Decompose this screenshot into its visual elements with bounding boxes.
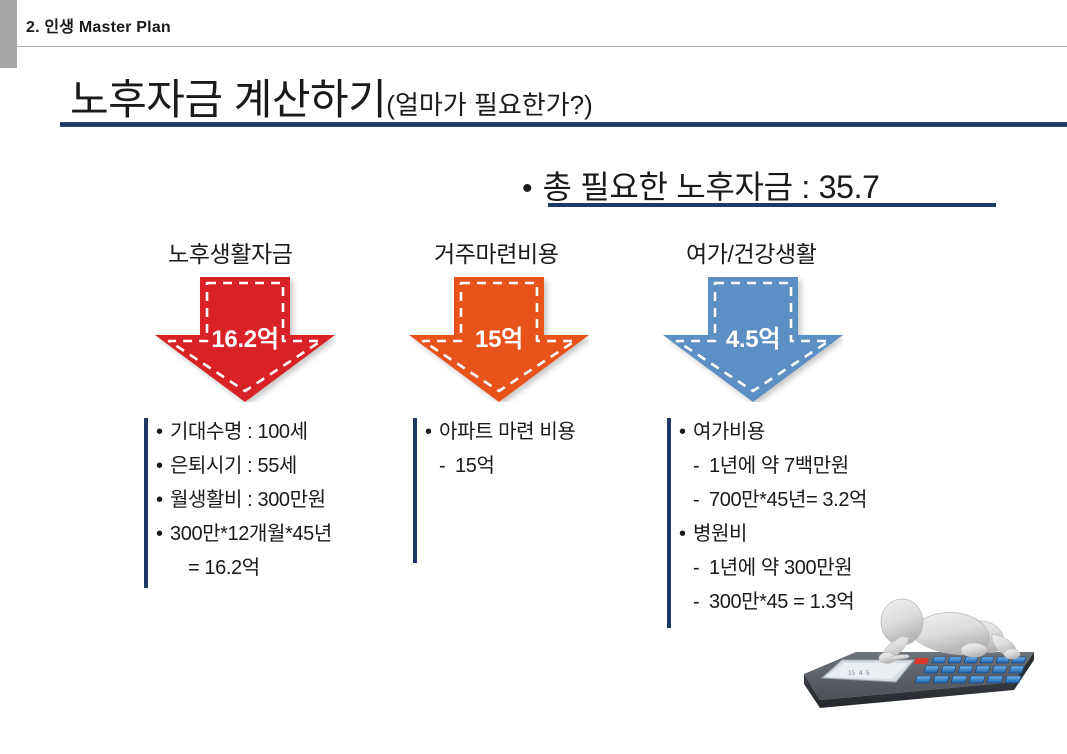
- slide-canvas: 2. 인생 Master Plan 노후자금 계산하기(얼마가 필요한가?) •…: [0, 0, 1067, 754]
- arrow-shape-1: 16.2억: [155, 277, 335, 402]
- list-item: - 15억: [425, 456, 575, 476]
- page-title-sub: (얼마가 필요한가?): [386, 90, 592, 120]
- bullet-dot-icon: •: [156, 422, 170, 442]
- total-required-fund-text: 총 필요한 노후자금 : 35.7: [543, 162, 880, 208]
- bullet-dash-icon: -: [439, 456, 455, 476]
- total-required-fund: • 총 필요한 노후자금 : 35.7: [522, 162, 880, 208]
- column-title-3: 여가/건강생활: [686, 235, 817, 269]
- header-label: 2. 인생 Master Plan: [26, 13, 171, 37]
- list-accent-rule-2: [413, 418, 417, 563]
- arrow-value-3: 4.5억: [726, 319, 780, 354]
- list-item-label: 월생활비 : 300만원: [170, 490, 326, 510]
- bullet-dot-icon: •: [156, 490, 170, 510]
- bullet-dash-icon: -: [693, 592, 709, 612]
- header-accent-bar: [0, 0, 17, 68]
- list-item: • 아파트 마련 비용: [425, 422, 575, 442]
- arrow-shape-3: 4.5억: [663, 277, 843, 402]
- person-on-calculator-icon: 15 4 5: [796, 596, 1046, 716]
- list-accent-rule-1: [144, 418, 148, 588]
- bullet-list-1: • 기대수명 : 100세 • 은퇴시기 : 55세 • 월생활비 : 300만…: [156, 422, 332, 592]
- list-accent-rule-3: [667, 418, 671, 628]
- bullet-dash-icon: -: [693, 558, 709, 578]
- list-item: - 700만*45년= 3.2억: [679, 490, 867, 510]
- list-item-label: 700만*45년= 3.2억: [709, 490, 867, 510]
- list-item-label: 15억: [455, 456, 494, 476]
- bullet-dot-icon: •: [679, 422, 693, 442]
- list-item: • 여가비용: [679, 422, 867, 442]
- list-item: - 1년에 약 300만원: [679, 558, 867, 578]
- list-item-label: 기대수명 : 100세: [170, 422, 308, 442]
- list-item-label: = 16.2억: [188, 558, 260, 578]
- bullet-dash-icon: -: [693, 456, 709, 476]
- list-item: • 300만*12개월*45년: [156, 524, 332, 544]
- arrow-value-1: 16.2억: [211, 319, 278, 354]
- list-item: = 16.2억: [156, 558, 332, 578]
- page-title-main: 노후자금 계산하기: [70, 76, 386, 123]
- list-item-label: 1년에 약 300만원: [709, 558, 852, 578]
- list-item: - 1년에 약 7백만원: [679, 456, 867, 476]
- list-item: • 병원비: [679, 524, 867, 544]
- list-item: • 은퇴시기 : 55세: [156, 456, 332, 476]
- list-item-label: 1년에 약 7백만원: [709, 456, 849, 476]
- arrow-value-2: 15억: [475, 319, 523, 354]
- title-underline: [60, 122, 1067, 127]
- bullet-dot-icon: •: [425, 422, 439, 442]
- person-on-calculator-illustration: 15 4 5: [796, 596, 1046, 716]
- header-divider: [17, 46, 1067, 47]
- svg-text:15 4 5: 15 4 5: [848, 670, 870, 677]
- bullet-dash-icon: -: [693, 490, 709, 510]
- page-title: 노후자금 계산하기(얼마가 필요한가?): [70, 66, 593, 127]
- list-item: • 월생활비 : 300만원: [156, 490, 332, 510]
- bullet-dot-icon: •: [679, 524, 693, 544]
- bullet-list-2: • 아파트 마련 비용 - 15억: [425, 422, 575, 490]
- bullet-dot-icon: •: [156, 456, 170, 476]
- arrow-shape-2: 15억: [409, 277, 589, 402]
- bullet-glyph-icon: •: [522, 174, 533, 204]
- bullet-dot-icon: •: [156, 524, 170, 544]
- total-underline: [548, 203, 996, 207]
- list-item-label: 300만*12개월*45년: [170, 524, 332, 544]
- list-item-label: 병원비: [693, 524, 747, 544]
- list-item: • 기대수명 : 100세: [156, 422, 332, 442]
- list-item-label: 은퇴시기 : 55세: [170, 456, 297, 476]
- list-item-label: 아파트 마련 비용: [439, 422, 575, 442]
- column-title-1: 노후생활자금: [168, 235, 293, 269]
- column-title-2: 거주마련비용: [434, 235, 559, 269]
- list-item-label: 여가비용: [693, 422, 765, 442]
